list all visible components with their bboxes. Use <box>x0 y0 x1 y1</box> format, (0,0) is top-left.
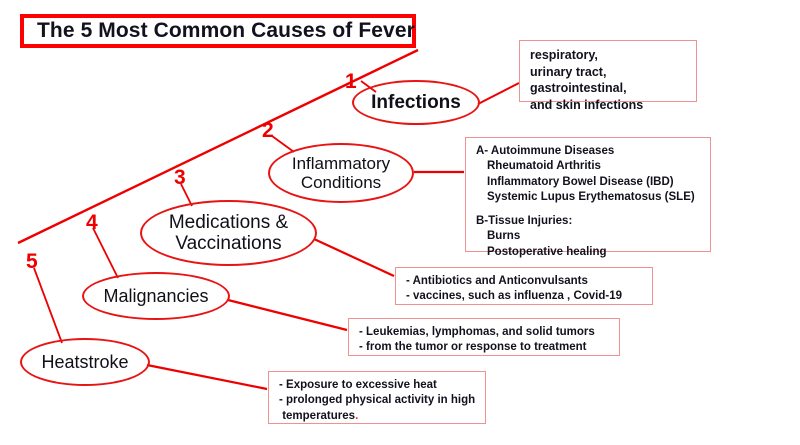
cause-ellipse-malignancies[interactable]: Malignancies <box>82 272 230 320</box>
number-3: 3 <box>174 167 186 188</box>
detail-line: Systemic Lupus Erythematosus (SLE) <box>476 190 701 205</box>
detail-line: temperatures. <box>279 409 476 424</box>
detail-line: - prolonged physical activity in high <box>279 393 476 408</box>
detail-box-malignancies: - Leukemias, lymphomas, and solid tumors… <box>348 318 620 356</box>
cause-label-malignancies: Malignancies <box>103 286 208 306</box>
cause-ellipse-medications[interactable]: Medications &Vaccinations <box>140 200 317 266</box>
detail-line: gastrointestinal, <box>530 80 687 97</box>
detail-line-text: temperatures <box>279 410 355 422</box>
number-1: 1 <box>345 71 357 92</box>
detail-box-infections: respiratory, urinary tract, gastrointest… <box>519 40 697 102</box>
tick-4 <box>93 228 118 278</box>
detail-line: A- Autoimmune Diseases <box>476 144 701 159</box>
page-title: The 5 Most Common Causes of Fever <box>20 14 416 48</box>
detail-box-inflammatory: A- Autoimmune Diseases Rheumatoid Arthri… <box>465 137 711 252</box>
detail-line: and skin infections <box>530 97 687 114</box>
number-2: 2 <box>262 120 274 141</box>
connector-malignancies <box>228 300 347 330</box>
tick-2 <box>272 136 294 152</box>
connector-medications <box>314 239 394 276</box>
detail-line: respiratory, <box>530 47 687 64</box>
connector-heatstroke <box>147 365 267 389</box>
detail-line: urinary tract, <box>530 64 687 81</box>
cause-label-infections: Infections <box>371 92 461 113</box>
detail-line: Inflammatory Bowel Disease (IBD) <box>476 175 701 190</box>
page-title-text: The 5 Most Common Causes of Fever <box>24 19 415 43</box>
tick-5 <box>34 268 62 343</box>
detail-box-medications: - Antibiotics and Anticonvulsants - vacc… <box>395 267 653 305</box>
detail-line: - vaccines, such as influenza , Covid-19 <box>406 289 643 304</box>
cause-ellipse-infections[interactable]: Infections <box>352 80 480 125</box>
connector-infections <box>478 83 519 104</box>
detail-line: - Exposure to excessive heat <box>279 378 476 393</box>
detail-box-heatstroke: - Exposure to excessive heat - prolonged… <box>268 371 486 424</box>
cause-ellipse-inflammatory[interactable]: InflammatoryConditions <box>268 143 414 203</box>
cause-label-medications-line1: Medications & <box>169 212 288 233</box>
cause-label-inflammatory: InflammatoryConditions <box>292 154 390 192</box>
number-4: 4 <box>86 212 98 233</box>
cause-label-medications: Medications &Vaccinations <box>169 212 288 255</box>
detail-line: - from the tumor or response to treatmen… <box>359 340 610 355</box>
detail-line: Burns <box>476 229 701 244</box>
cause-label-inflammatory-line1: Inflammatory <box>292 154 390 173</box>
detail-line: - Leukemias, lymphomas, and solid tumors <box>359 325 610 340</box>
detail-line: Rheumatoid Arthritis <box>476 159 701 174</box>
detail-end-mark: . <box>355 410 358 422</box>
diagram-canvas: The 5 Most Common Causes of Fever 1 2 3 … <box>0 0 800 445</box>
detail-line: Postoperative healing <box>476 245 701 260</box>
cause-ellipse-heatstroke[interactable]: Heatstroke <box>20 338 150 386</box>
detail-spacer <box>476 205 701 214</box>
number-5: 5 <box>26 251 38 272</box>
cause-label-inflammatory-line2: Conditions <box>292 173 390 192</box>
cause-label-heatstroke: Heatstroke <box>41 352 128 372</box>
detail-line: - Antibiotics and Anticonvulsants <box>406 274 643 289</box>
cause-label-medications-line2: Vaccinations <box>169 233 288 254</box>
detail-line: B-Tissue Injuries: <box>476 214 701 229</box>
